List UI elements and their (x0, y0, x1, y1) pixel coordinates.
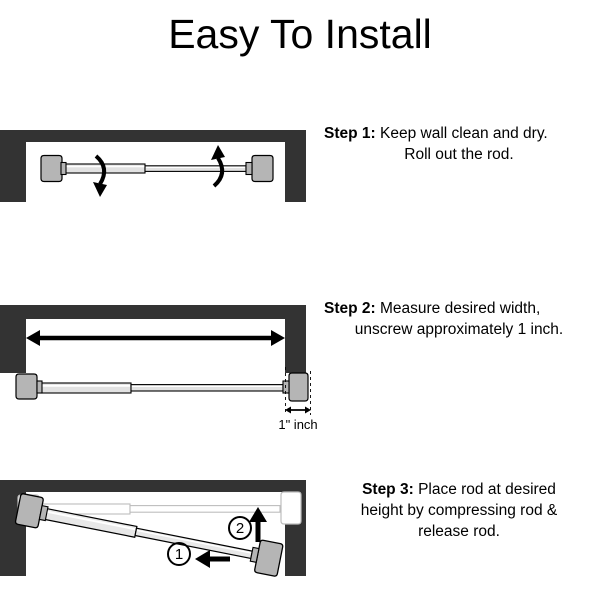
rod-compress-diagram: 2 1 (0, 470, 320, 601)
step-3-text-3: release rod. (318, 521, 600, 542)
step-2-line-1: Step 2: Measure desired width, (318, 298, 600, 319)
step-1-caption: Step 1: Keep wall clean and dry. Roll ou… (318, 123, 600, 165)
step-2-text-2: unscrew approximately 1 inch. (318, 319, 600, 340)
width-measure-arrow-icon (26, 330, 285, 346)
step-2-caption: Step 2: Measure desired width, unscrew a… (318, 298, 600, 340)
step-3-label: Step 3: (362, 481, 414, 498)
step-2-section: 1" inch Step 2: Measure desired width, u… (0, 295, 600, 440)
rod-measure-diagram: 1" inch (0, 295, 320, 440)
instruction-sheet: Easy To Install (0, 0, 600, 601)
step-3-section: 2 1 Step 3: Place rod (0, 470, 600, 601)
telescoping-rod (16, 373, 308, 401)
step-2-label: Step 2: (324, 300, 376, 317)
step-1-text-1: Keep wall clean and dry. (380, 125, 548, 142)
one-inch-label: 1" inch (278, 417, 317, 432)
rotation-arrow-left-icon (93, 156, 107, 197)
step-1-label: Step 1: (324, 125, 376, 142)
callout-one-marker: 1 (175, 546, 183, 563)
step-1-line-1: Step 1: Keep wall clean and dry. (318, 123, 600, 144)
callout-two-marker: 2 (236, 520, 244, 537)
step-3-caption: Step 3: Place rod at desired height by c… (318, 479, 600, 542)
step-3-text-2: height by compressing rod & (318, 500, 600, 521)
step-3-text-1: Place rod at desired (418, 481, 556, 498)
step-1-text-2: Roll out the rod. (318, 144, 600, 165)
step-2-text-1: Measure desired width, (380, 300, 540, 317)
step-3-line-1: Step 3: Place rod at desired (318, 479, 600, 500)
step-1-section: Step 1: Keep wall clean and dry. Roll ou… (0, 120, 600, 220)
page-title: Easy To Install (0, 8, 600, 60)
rod-rotate-diagram (0, 120, 320, 220)
telescoping-rod (41, 156, 273, 182)
